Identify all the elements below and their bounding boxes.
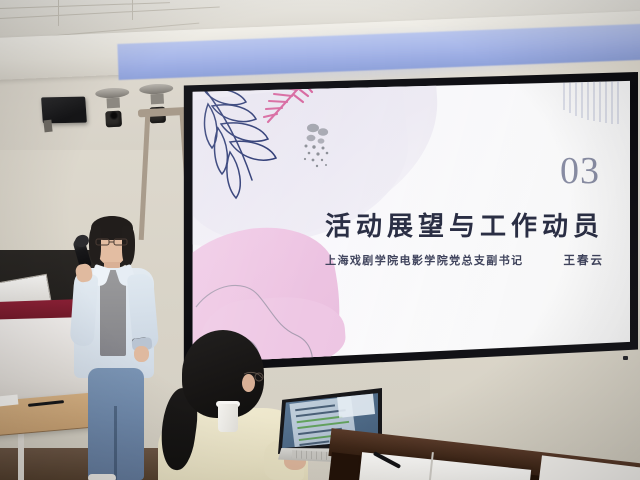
camera-lens — [109, 111, 118, 120]
camera-neck — [106, 98, 120, 109]
vertical-stripe-pattern — [560, 80, 624, 124]
ceiling-tile-line — [0, 2, 170, 9]
presenter-right-hand — [134, 346, 149, 362]
screenshot-scene: 03 活动展望与工作动员 上海戏剧学院电影学院党总支副书记 王春云 — [0, 0, 640, 480]
eyeglasses-icon — [244, 370, 264, 382]
presenter-left-arm — [70, 273, 99, 346]
slide-title: 活动展望与工作动员 — [325, 206, 604, 243]
document-text-line — [295, 404, 335, 410]
presenter-shoe — [88, 474, 116, 480]
camera-head — [105, 111, 122, 128]
slide-subtitle-row: 上海戏剧学院电影学院党总支副书记 王春云 — [325, 252, 604, 268]
desk-leg — [18, 428, 24, 480]
speaker-bracket — [43, 120, 52, 133]
wall-display[interactable]: 03 活动展望与工作动员 上海戏剧学院电影学院党总支副书记 王春云 — [182, 72, 638, 372]
slide-section-number: 03 — [560, 152, 600, 190]
ceiling-camera-icon — [95, 87, 131, 128]
coffee-cup — [218, 404, 238, 432]
slide-canvas: 03 活动展望与工作动员 上海戏剧学院电影学院党总支副书记 王春云 — [190, 80, 630, 364]
presentation-slide: 03 活动展望与工作动员 上海戏剧学院电影学院党总支副书记 王春云 — [190, 80, 630, 364]
presenter-jeans-seam — [114, 406, 117, 480]
camera-neck — [150, 94, 164, 105]
display-power-led — [623, 356, 628, 360]
eyeglasses-icon — [95, 238, 129, 246]
slide-presenter-name: 王春云 — [564, 252, 605, 268]
presenter-hair — [122, 226, 135, 266]
ceiling-tile-line — [0, 6, 220, 19]
gray-dot-cluster-icon — [300, 122, 348, 174]
slide-subtitle-organization: 上海戏剧学院电影学院党总支副书记 — [325, 252, 523, 268]
ceiling-tile-line — [58, 0, 59, 26]
